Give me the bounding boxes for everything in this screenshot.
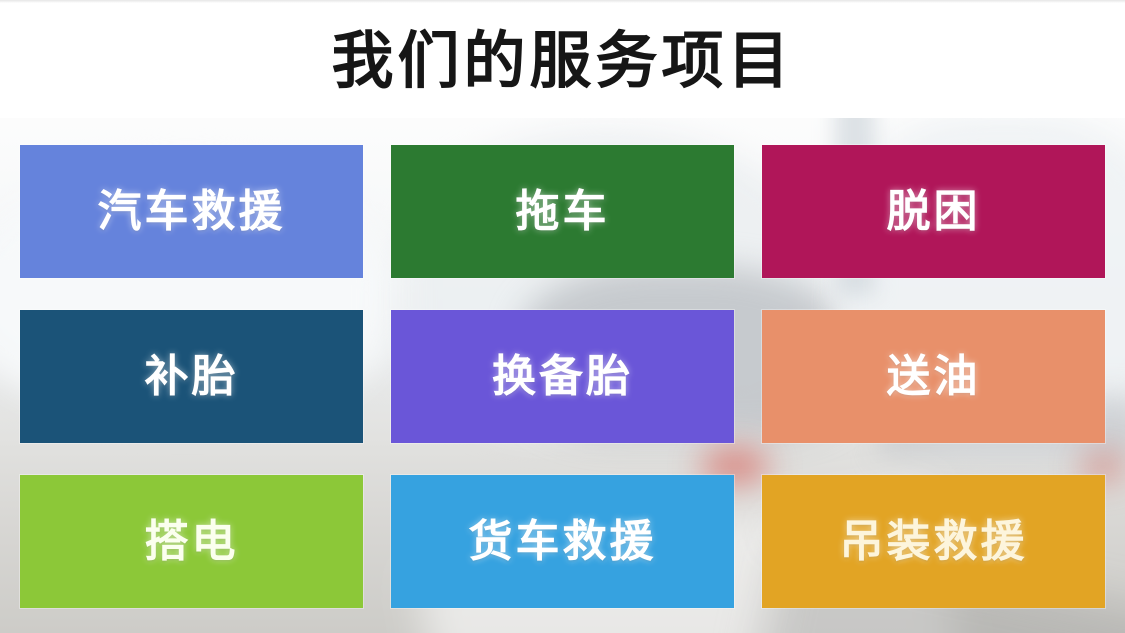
service-tile-truck-rescue[interactable]: 货车救援 <box>391 475 734 608</box>
service-tile-tire-repair[interactable]: 补胎 <box>20 310 363 443</box>
page-title: 我们的服务项目 <box>331 25 793 93</box>
service-tile-label: 脱困 <box>887 190 981 234</box>
service-tile-label: 搭电 <box>145 520 239 564</box>
service-tile-spare-tire-change[interactable]: 换备胎 <box>391 310 734 443</box>
service-tile-label: 送油 <box>887 355 981 399</box>
service-tile-car-rescue[interactable]: 汽车救援 <box>20 145 363 278</box>
service-tile-label: 吊装救援 <box>840 520 1028 564</box>
header-band: 我们的服务项目 <box>0 0 1125 118</box>
service-tile-tow-truck[interactable]: 拖车 <box>391 145 734 278</box>
service-tile-hoisting-rescue[interactable]: 吊装救援 <box>762 475 1105 608</box>
top-hairline <box>0 0 1125 3</box>
service-tile-jump-start[interactable]: 搭电 <box>20 475 363 608</box>
service-tile-label: 换备胎 <box>492 355 633 399</box>
service-tile-fuel-delivery[interactable]: 送油 <box>762 310 1105 443</box>
service-tile-label: 补胎 <box>145 355 239 399</box>
service-grid: 汽车救援 拖车 脱困 补胎 换备胎 送油 搭电 货车救援 吊装救援 <box>20 145 1105 608</box>
service-tile-label: 货车救援 <box>469 520 657 564</box>
service-poster: 我们的服务项目 汽车救援 拖车 脱困 补胎 换备胎 送油 搭电 货车救援 吊装救… <box>0 0 1125 633</box>
service-tile-label: 拖车 <box>516 190 610 234</box>
service-tile-extrication[interactable]: 脱困 <box>762 145 1105 278</box>
service-tile-label: 汽车救援 <box>98 190 286 234</box>
